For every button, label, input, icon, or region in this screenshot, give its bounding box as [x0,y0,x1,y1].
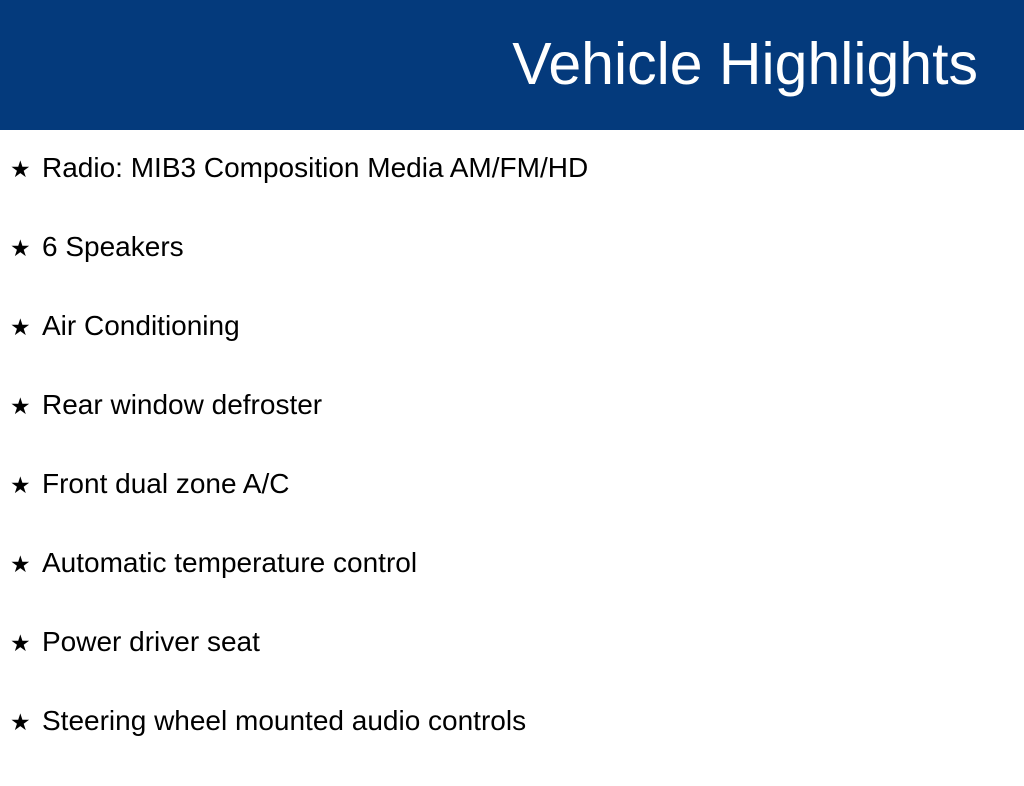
page-title: Vehicle Highlights [512,34,978,96]
list-item-label: Radio: MIB3 Composition Media AM/FM/HD [42,154,588,182]
list-item-label: Steering wheel mounted audio controls [42,707,526,735]
list-item: ★ Rear window defroster [10,391,1024,470]
star-bullet-icon: ★ [10,712,42,735]
slide: Vehicle Highlights ★ Radio: MIB3 Composi… [0,0,1024,768]
list-item-label: Automatic temperature control [42,549,417,577]
star-bullet-icon: ★ [10,238,42,261]
star-bullet-icon: ★ [10,317,42,340]
list-item-label: Rear window defroster [42,391,322,419]
list-item-label: Power driver seat [42,628,260,656]
star-bullet-icon: ★ [10,159,42,182]
list-item-label: 6 Speakers [42,233,184,261]
list-item: ★ Power driver seat [10,628,1024,707]
list-item: ★ 6 Speakers [10,233,1024,312]
vehicle-highlights-list: ★ Radio: MIB3 Composition Media AM/FM/HD… [10,154,1024,786]
list-item-label: Front dual zone A/C [42,470,289,498]
list-item: ★ Radio: MIB3 Composition Media AM/FM/HD [10,154,1024,233]
slide-header-band: Vehicle Highlights [0,0,1024,130]
star-bullet-icon: ★ [10,475,42,498]
list-item: ★ Automatic temperature control [10,549,1024,628]
star-bullet-icon: ★ [10,554,42,577]
list-item: ★ Steering wheel mounted audio controls [10,707,1024,786]
slide-body: ★ Radio: MIB3 Composition Media AM/FM/HD… [0,130,1024,768]
list-item: ★ Air Conditioning [10,312,1024,391]
list-item-label: Air Conditioning [42,312,240,340]
list-item: ★ Front dual zone A/C [10,470,1024,549]
star-bullet-icon: ★ [10,396,42,419]
star-bullet-icon: ★ [10,633,42,656]
